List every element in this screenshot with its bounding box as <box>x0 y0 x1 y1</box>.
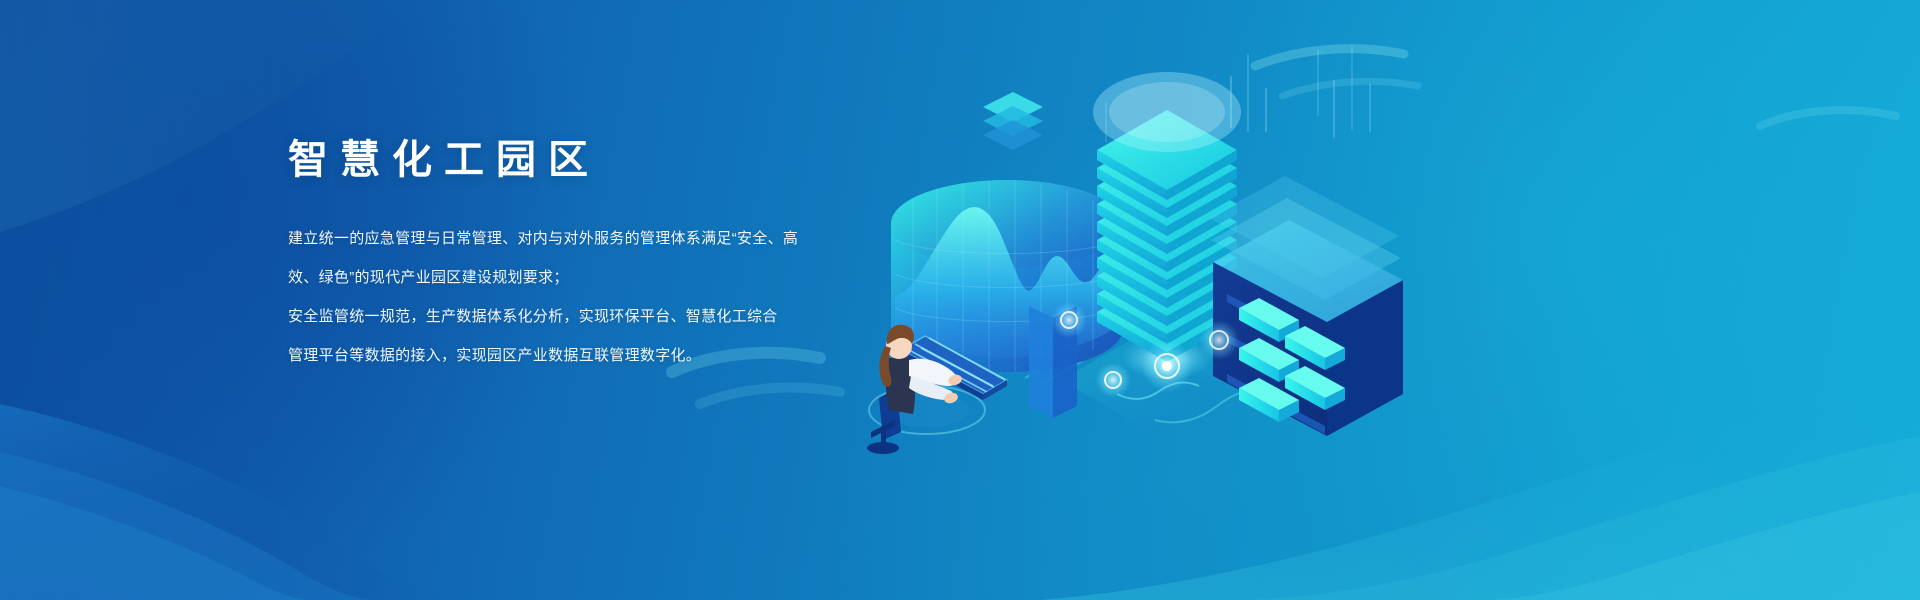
description-line-3: 安全监管统一规范，生产数据体系化分析，实现环保平台、智慧化工综合 <box>288 302 908 332</box>
description-line-4: 管理平台等数据的接入，实现园区产业数据互联管理数字化。 <box>288 341 908 371</box>
hero-copy: 智慧化工园区 建立统一的应急管理与日常管理、对内与对外服务的管理体系满足“安全、… <box>288 140 908 371</box>
description-line-1: 建立统一的应急管理与日常管理、对内与对外服务的管理体系满足“安全、高 <box>288 224 908 254</box>
floating-layers-icon <box>983 92 1043 150</box>
hero-banner: 智慧化工园区 建立统一的应急管理与日常管理、对内与对外服务的管理体系满足“安全、… <box>0 0 1920 600</box>
hero-description: 建立统一的应急管理与日常管理、对内与对外服务的管理体系满足“安全、高 效、绿色”… <box>288 224 908 371</box>
isometric-datacenter-illustration <box>855 28 1415 458</box>
description-line-2: 效、绿色”的现代产业园区建设规划要求； <box>288 263 908 293</box>
page-title: 智慧化工园区 <box>288 140 908 180</box>
